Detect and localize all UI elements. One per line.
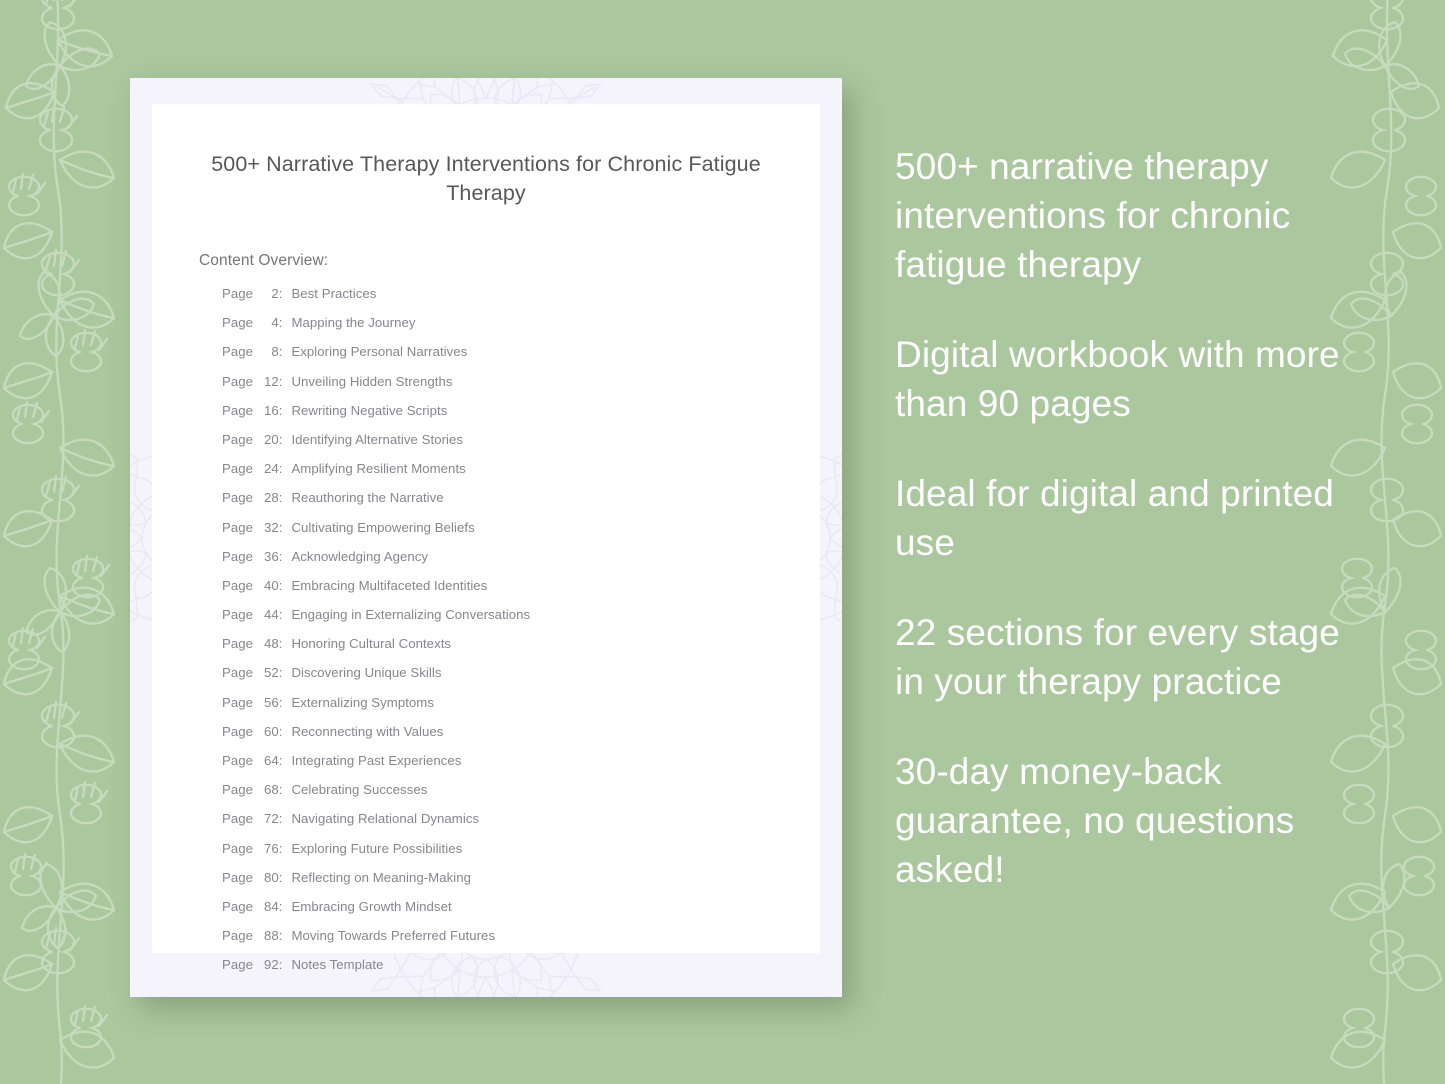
toc-colon: : xyxy=(279,928,292,943)
toc-entry-title: Unveiling Hidden Strengths xyxy=(291,374,452,389)
toc-entry: Page 80:Reflecting on Meaning-Making xyxy=(222,870,820,899)
toc-page-number: 2 xyxy=(257,286,279,301)
toc-page-word: Page xyxy=(222,607,257,622)
toc-colon: : xyxy=(279,549,292,564)
toc-entry: Page 84:Embracing Growth Mindset xyxy=(222,899,820,928)
marketing-block: Digital workbook with more than 90 pages xyxy=(895,330,1365,428)
toc-page-number: 20 xyxy=(257,432,279,447)
toc-colon: : xyxy=(279,782,292,797)
toc-page-word: Page xyxy=(222,724,257,739)
toc-colon: : xyxy=(279,607,292,622)
toc-entry: Page 20:Identifying Alternative Stories xyxy=(222,432,820,461)
toc-page-word: Page xyxy=(222,578,257,593)
toc-colon: : xyxy=(279,841,292,856)
workbook-page-sheet: 500+ Narrative Therapy Interventions for… xyxy=(152,104,820,953)
toc-entry-title: Moving Towards Preferred Futures xyxy=(291,928,495,943)
toc-page-word: Page xyxy=(222,461,257,476)
toc-page-number: 56 xyxy=(257,695,279,710)
toc-entry-title: Externalizing Symptoms xyxy=(291,695,434,710)
toc-entry-title: Engaging in Externalizing Conversations xyxy=(291,607,530,622)
toc-entry: Page 12:Unveiling Hidden Strengths xyxy=(222,374,820,403)
toc-colon: : xyxy=(279,578,292,593)
table-of-contents-list: Page 2:Best PracticesPage 4:Mapping the … xyxy=(222,286,820,987)
toc-entry-title: Exploring Personal Narratives xyxy=(291,344,467,359)
toc-entry: Page 88:Moving Towards Preferred Futures xyxy=(222,928,820,957)
toc-colon: : xyxy=(279,811,292,826)
toc-entry-title: Identifying Alternative Stories xyxy=(291,432,463,447)
toc-entry: Page 68:Celebrating Successes xyxy=(222,782,820,811)
toc-page-number: 76 xyxy=(257,841,279,856)
toc-page-number: 8 xyxy=(257,344,279,359)
toc-entry-title: Amplifying Resilient Moments xyxy=(291,461,465,476)
toc-colon: : xyxy=(279,636,292,651)
toc-page-word: Page xyxy=(222,695,257,710)
toc-colon: : xyxy=(279,957,292,972)
toc-colon: : xyxy=(279,403,292,418)
toc-colon: : xyxy=(279,899,292,914)
toc-colon: : xyxy=(279,724,292,739)
toc-entry-title: Notes Template xyxy=(291,957,383,972)
toc-page-number: 28 xyxy=(257,490,279,505)
toc-entry: Page 48:Honoring Cultural Contexts xyxy=(222,636,820,665)
toc-entry: Page 40:Embracing Multifaceted Identitie… xyxy=(222,578,820,607)
toc-entry: Page 4:Mapping the Journey xyxy=(222,315,820,344)
toc-page-word: Page xyxy=(222,520,257,535)
toc-page-word: Page xyxy=(222,782,257,797)
toc-entry: Page 16:Rewriting Negative Scripts xyxy=(222,403,820,432)
toc-entry-title: Celebrating Successes xyxy=(291,782,427,797)
toc-colon: : xyxy=(279,753,292,768)
toc-entry: Page 8:Exploring Personal Narratives xyxy=(222,344,820,373)
toc-entry: Page 36:Acknowledging Agency xyxy=(222,549,820,578)
toc-page-number: 48 xyxy=(257,636,279,651)
toc-entry: Page 76:Exploring Future Possibilities xyxy=(222,841,820,870)
toc-entry-title: Exploring Future Possibilities xyxy=(291,841,462,856)
toc-page-number: 68 xyxy=(257,782,279,797)
toc-page-number: 92 xyxy=(257,957,279,972)
toc-colon: : xyxy=(279,695,292,710)
toc-colon: : xyxy=(279,520,292,535)
toc-entry: Page 2:Best Practices xyxy=(222,286,820,315)
marketing-block: 30-day money-back guarantee, no question… xyxy=(895,747,1365,894)
product-preview-card: 500+ Narrative Therapy Interventions for… xyxy=(130,78,842,997)
toc-entry-title: Best Practices xyxy=(291,286,376,301)
toc-colon: : xyxy=(279,870,292,885)
toc-page-word: Page xyxy=(222,432,257,447)
toc-colon: : xyxy=(279,432,292,447)
toc-page-number: 32 xyxy=(257,520,279,535)
toc-entry: Page 92:Notes Template xyxy=(222,957,820,986)
toc-page-word: Page xyxy=(222,374,257,389)
toc-entry-title: Cultivating Empowering Beliefs xyxy=(291,520,474,535)
toc-page-number: 40 xyxy=(257,578,279,593)
toc-page-word: Page xyxy=(222,286,257,301)
toc-entry-title: Navigating Relational Dynamics xyxy=(291,811,479,826)
toc-page-number: 80 xyxy=(257,870,279,885)
toc-colon: : xyxy=(279,490,292,505)
toc-page-number: 64 xyxy=(257,753,279,768)
marketing-block: 22 sections for every stage in your ther… xyxy=(895,608,1365,706)
toc-page-number: 52 xyxy=(257,665,279,680)
toc-page-number: 60 xyxy=(257,724,279,739)
toc-page-word: Page xyxy=(222,899,257,914)
toc-entry-title: Embracing Multifaceted Identities xyxy=(291,578,487,593)
toc-entry-title: Mapping the Journey xyxy=(291,315,415,330)
toc-page-word: Page xyxy=(222,636,257,651)
toc-colon: : xyxy=(279,461,292,476)
toc-page-word: Page xyxy=(222,549,257,564)
toc-page-word: Page xyxy=(222,753,257,768)
toc-entry: Page 32:Cultivating Empowering Beliefs xyxy=(222,520,820,549)
toc-page-word: Page xyxy=(222,957,257,972)
toc-colon: : xyxy=(279,374,292,389)
toc-page-number: 16 xyxy=(257,403,279,418)
toc-entry-title: Honoring Cultural Contexts xyxy=(291,636,451,651)
toc-entry-title: Discovering Unique Skills xyxy=(291,665,441,680)
toc-entry-title: Rewriting Negative Scripts xyxy=(291,403,447,418)
toc-entry: Page 28:Reauthoring the Narrative xyxy=(222,490,820,519)
toc-page-word: Page xyxy=(222,403,257,418)
toc-entry: Page 56:Externalizing Symptoms xyxy=(222,695,820,724)
toc-colon: : xyxy=(279,315,292,330)
toc-page-word: Page xyxy=(222,811,257,826)
toc-page-number: 12 xyxy=(257,374,279,389)
toc-entry-title: Embracing Growth Mindset xyxy=(291,899,451,914)
toc-page-word: Page xyxy=(222,870,257,885)
toc-entry-title: Integrating Past Experiences xyxy=(291,753,461,768)
toc-entry: Page 24:Amplifying Resilient Moments xyxy=(222,461,820,490)
toc-page-word: Page xyxy=(222,315,257,330)
floral-vine-left-decoration xyxy=(0,0,144,1084)
marketing-block: Ideal for digital and printed use xyxy=(895,469,1365,567)
toc-page-word: Page xyxy=(222,928,257,943)
toc-page-word: Page xyxy=(222,344,257,359)
toc-page-number: 24 xyxy=(257,461,279,476)
toc-page-number: 4 xyxy=(257,315,279,330)
toc-page-word: Page xyxy=(222,841,257,856)
marketing-block: 500+ narrative therapy interventions for… xyxy=(895,142,1365,289)
toc-entry: Page 52:Discovering Unique Skills xyxy=(222,665,820,694)
toc-entry-title: Reflecting on Meaning-Making xyxy=(291,870,471,885)
toc-page-number: 88 xyxy=(257,928,279,943)
toc-colon: : xyxy=(279,286,292,301)
toc-page-number: 84 xyxy=(257,899,279,914)
toc-entry: Page 64:Integrating Past Experiences xyxy=(222,753,820,782)
toc-entry: Page 60:Reconnecting with Values xyxy=(222,724,820,753)
toc-entry-title: Reauthoring the Narrative xyxy=(291,490,443,505)
toc-page-number: 36 xyxy=(257,549,279,564)
toc-entry-title: Reconnecting with Values xyxy=(291,724,443,739)
toc-page-word: Page xyxy=(222,490,257,505)
content-overview-label: Content Overview: xyxy=(199,252,820,270)
marketing-copy-column: 500+ narrative therapy interventions for… xyxy=(895,142,1365,894)
toc-page-number: 44 xyxy=(257,607,279,622)
toc-colon: : xyxy=(279,665,292,680)
toc-colon: : xyxy=(279,344,292,359)
toc-page-word: Page xyxy=(222,665,257,680)
toc-entry: Page 72:Navigating Relational Dynamics xyxy=(222,811,820,840)
toc-entry: Page 44:Engaging in Externalizing Conver… xyxy=(222,607,820,636)
page-title: 500+ Narrative Therapy Interventions for… xyxy=(200,150,772,208)
toc-entry-title: Acknowledging Agency xyxy=(291,549,428,564)
toc-page-number: 72 xyxy=(257,811,279,826)
